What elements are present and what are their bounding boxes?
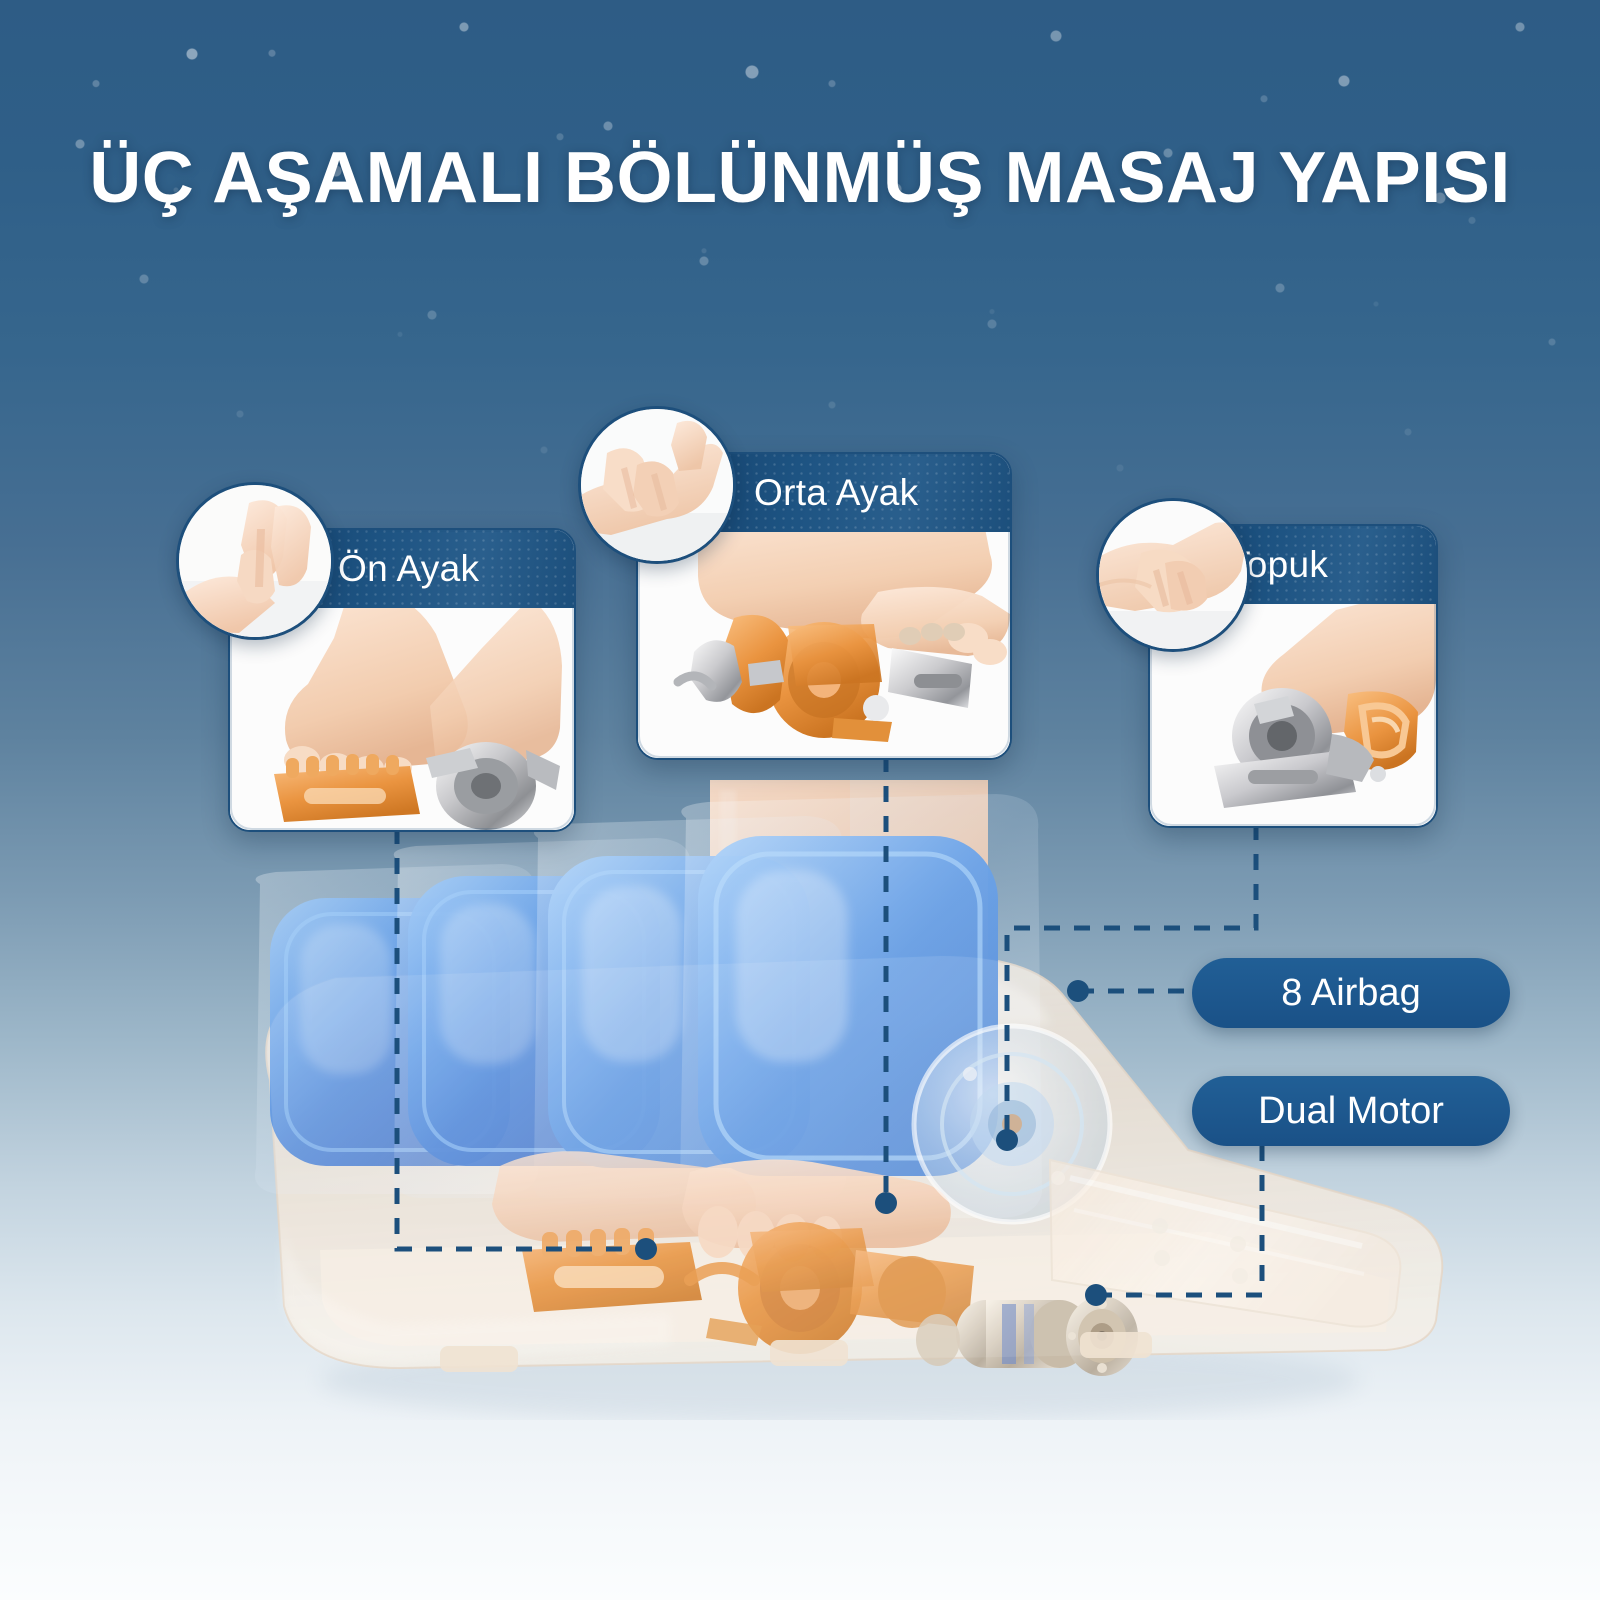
foot-massage-hands-photo — [176, 482, 334, 640]
spec-pill-label-airbag: 8 Airbag — [1281, 972, 1420, 1015]
feature-card-label-fore-foot: Ön Ayak — [338, 548, 479, 590]
forefoot-roller-mechanism-photo — [230, 608, 574, 830]
heel-massage-hands-photo — [1096, 498, 1250, 652]
spec-pill-label-dual-motor: Dual Motor — [1258, 1090, 1444, 1133]
spec-pill-airbag[interactable]: 8 Airbag — [1192, 958, 1510, 1028]
feature-card-label-mid-foot: Orta Ayak — [754, 472, 919, 514]
page-title: ÜÇ AŞAMALI BÖLÜNMÜŞ MASAJ YAPISI — [0, 137, 1600, 219]
infographic-canvas: ÜÇ AŞAMALI BÖLÜNMÜŞ MASAJ YAPISI — [0, 0, 1600, 1600]
ankle-massage-hands-photo — [578, 406, 736, 564]
spec-pill-dual-motor[interactable]: Dual Motor — [1192, 1076, 1510, 1146]
midfoot-roller-mechanism-photo — [638, 532, 1010, 758]
